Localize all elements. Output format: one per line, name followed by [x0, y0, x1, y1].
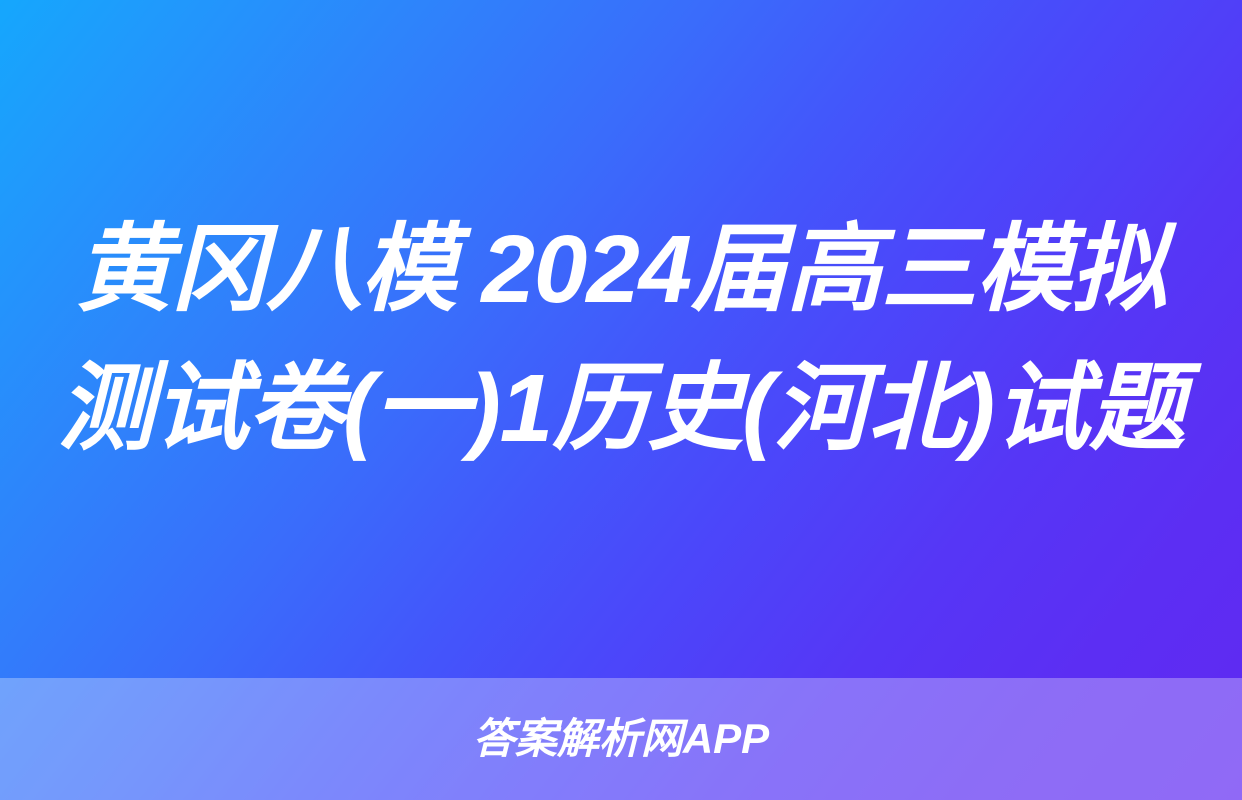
page-title: 黄冈八模 2024届高三模拟测试卷(一)1历史(河北)试题	[56, 200, 1186, 478]
watermark-band: 答案解析网APP	[0, 678, 1242, 800]
title-block: 黄冈八模 2024届高三模拟测试卷(一)1历史(河北)试题	[0, 0, 1242, 678]
watermark-app-label: 答案解析网APP	[473, 718, 769, 760]
poster-background: 黄冈八模 2024届高三模拟测试卷(一)1历史(河北)试题 答案解析网APP	[0, 0, 1242, 800]
